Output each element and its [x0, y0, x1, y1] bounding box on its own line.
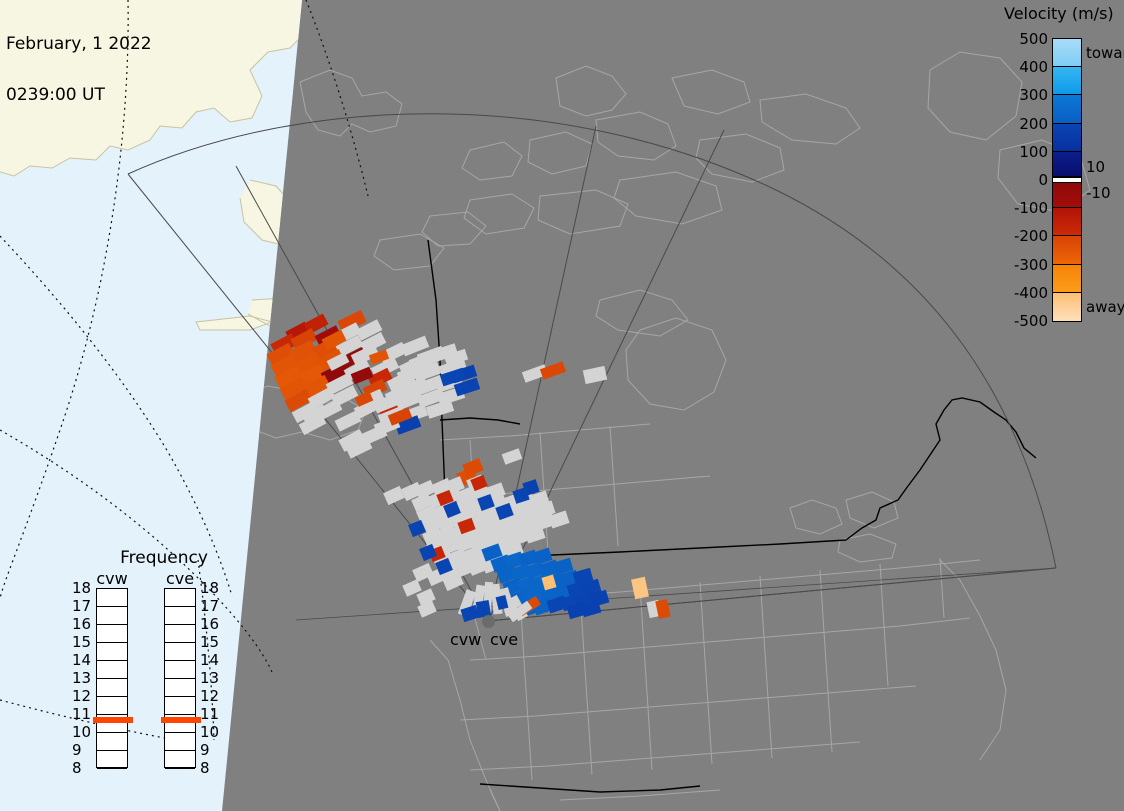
velocity-tick-400: 400	[1019, 58, 1048, 76]
velocity-tick-100: 100	[1019, 143, 1048, 161]
frequency-segment	[165, 643, 195, 661]
frequency-segment	[165, 661, 195, 679]
velocity-zero-lower-label: -10	[1086, 184, 1111, 202]
frequency-segment	[97, 589, 127, 607]
fan-plot-canvas: cvw cve February, 1 2022 0239:00 UT Velo…	[0, 0, 1124, 811]
velocity-cell	[583, 366, 607, 384]
frequency-segment	[165, 697, 195, 715]
velocity-band--300-to--400	[1053, 265, 1081, 293]
frequency-segment	[97, 733, 127, 751]
frequency-segment	[165, 733, 195, 751]
frequency-segment	[97, 607, 127, 625]
frequency-column-label-cvw: cvw	[96, 570, 128, 588]
frequency-segment	[97, 625, 127, 643]
velocity-band--400-to--500	[1053, 293, 1081, 321]
radar-label-cve: cve	[490, 630, 518, 649]
velocity-legend-title: Velocity (m/s)	[1004, 4, 1124, 23]
frequency-tick-cvw-16: 16	[72, 615, 91, 633]
velocity-tick-300: 300	[1019, 86, 1048, 104]
frequency-tick-cve-9: 9	[200, 741, 210, 759]
velocity-tick--300: -300	[1014, 256, 1048, 274]
velocity-band-400-to-300	[1053, 67, 1081, 95]
frequency-tick-cve-13: 13	[200, 669, 219, 687]
frequency-marker-cvw	[93, 717, 133, 723]
frequency-tick-cve-18: 18	[200, 579, 219, 597]
frequency-legend: Frequency cvw18171615141312111098cve1817…	[86, 548, 236, 780]
frequency-column-cvw: cvw	[96, 570, 128, 768]
radar-label-cvw: cvw	[450, 630, 481, 649]
frequency-segment	[97, 679, 127, 697]
velocity-zero-upper-label: 10	[1086, 158, 1105, 176]
frequency-segment	[97, 661, 127, 679]
frequency-tick-cve-12: 12	[200, 687, 219, 705]
frequency-tick-cvw-10: 10	[72, 723, 91, 741]
velocity-tick--500: -500	[1014, 312, 1048, 330]
frequency-tick-cvw-9: 9	[72, 741, 82, 759]
frequency-tick-cvw-17: 17	[72, 597, 91, 615]
frequency-tick-cvw-8: 8	[72, 759, 82, 777]
frequency-tick-cve-17: 17	[200, 597, 219, 615]
velocity-band--200-to--300	[1053, 236, 1081, 264]
frequency-tick-cve-11: 11	[200, 705, 219, 723]
frequency-tick-cvw-13: 13	[72, 669, 91, 687]
velocity-tick--400: -400	[1014, 284, 1048, 302]
timestamp-block: February, 1 2022 0239:00 UT	[6, 2, 152, 138]
date-label: February, 1 2022	[6, 36, 152, 53]
frequency-segment	[97, 697, 127, 715]
frequency-segment	[165, 625, 195, 643]
frequency-segment	[97, 643, 127, 661]
frequency-bar-cvw	[96, 588, 128, 768]
frequency-legend-title: Frequency	[104, 548, 224, 568]
frequency-bar-cve	[164, 588, 196, 768]
velocity-tick-500: 500	[1019, 30, 1048, 48]
frequency-segment	[165, 589, 195, 607]
frequency-tick-cvw-18: 18	[72, 579, 91, 597]
frequency-marker-cve	[161, 717, 201, 723]
frequency-segment	[97, 751, 127, 769]
frequency-tick-cve-16: 16	[200, 615, 219, 633]
velocity-cell	[631, 577, 649, 599]
time-label: 0239:00 UT	[6, 87, 152, 104]
frequency-tick-cve-10: 10	[200, 723, 219, 741]
velocity-band-100-to-10	[1053, 152, 1081, 177]
velocity-colorbar	[1052, 38, 1082, 322]
velocity-band-200-to-100	[1053, 124, 1081, 152]
frequency-segment	[165, 607, 195, 625]
velocity-band-300-to-200	[1053, 95, 1081, 123]
frequency-tick-cvw-12: 12	[72, 687, 91, 705]
frequency-segment	[165, 679, 195, 697]
velocity-band-500-to-400	[1053, 39, 1081, 67]
velocity-cell	[502, 448, 523, 464]
frequency-tick-cve-15: 15	[200, 633, 219, 651]
velocity-cell	[655, 599, 670, 619]
frequency-tick-cve-14: 14	[200, 651, 219, 669]
velocity-legend: Velocity (m/s) 5004003002001000-100-200-…	[1002, 2, 1124, 332]
frequency-tick-cve-8: 8	[200, 759, 210, 777]
radar-site-marker	[482, 615, 495, 628]
frequency-tick-cvw-15: 15	[72, 633, 91, 651]
velocity-tick--100: -100	[1014, 199, 1048, 217]
frequency-segment	[165, 751, 195, 769]
frequency-column-cve: cve	[164, 570, 196, 768]
velocity-tick-200: 200	[1019, 115, 1048, 133]
velocity-toward-label: toward	[1086, 44, 1124, 62]
frequency-tick-cvw-11: 11	[72, 705, 91, 723]
frequency-column-label-cve: cve	[164, 570, 196, 588]
velocity-tick-0: 0	[1038, 171, 1048, 189]
velocity-band--10-to--100	[1053, 183, 1081, 208]
velocity-band--100-to--200	[1053, 208, 1081, 236]
velocity-away-label: away	[1086, 298, 1124, 316]
velocity-tick--200: -200	[1014, 227, 1048, 245]
velocity-cell	[335, 410, 362, 431]
frequency-tick-cvw-14: 14	[72, 651, 91, 669]
